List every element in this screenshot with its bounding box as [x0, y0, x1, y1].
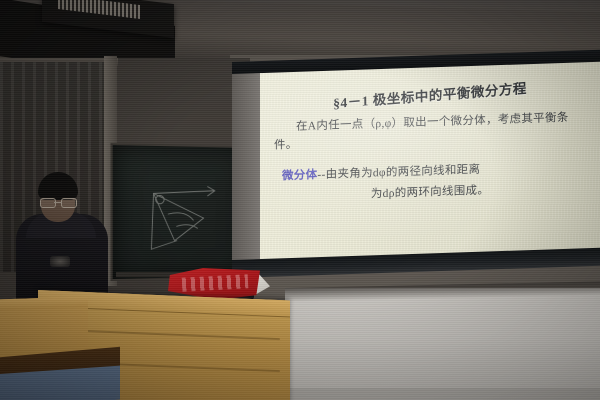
lecturer	[10, 172, 120, 307]
slide-keyword: 微分体	[282, 169, 317, 182]
projection-screen: §4－1 极坐标中的平衡微分方程 在A内任一点（ρ,φ）取出一个微分体，考虑其平…	[232, 50, 600, 290]
eyeglass-lens-right	[61, 198, 77, 208]
lecturer-hair	[38, 172, 78, 200]
eyeglasses-icon	[40, 198, 76, 206]
eyeglass-bridge	[54, 202, 61, 203]
chalk-sketch-icon	[113, 145, 244, 279]
slide-paragraph-1: 在A内任一点（ρ,φ）取出一个微分体，考虑其平衡条件。	[274, 109, 586, 155]
blackboard	[110, 143, 247, 281]
hoodie-logo	[50, 256, 70, 267]
lecture-hall-photo: §4－1 极坐标中的平衡微分方程 在A内任一点（ρ,φ）取出一个微分体，考虑其平…	[0, 0, 600, 400]
wall-baseboard	[285, 388, 600, 400]
eyeglass-lens-left	[40, 198, 56, 208]
lower-wall	[285, 288, 600, 400]
slide-paragraph-2-rest: --由夹角为dφ的两径向线和距离	[317, 163, 480, 180]
screen-left-margin	[232, 73, 262, 262]
side-desk-top-surface	[0, 296, 88, 310]
slide-content: §4－1 极坐标中的平衡微分方程 在A内任一点（ρ,φ）取出一个微分体，考虑其平…	[260, 62, 600, 261]
projected-slide-area: §4－1 极坐标中的平衡微分方程 在A内任一点（ρ,φ）取出一个微分体，考虑其平…	[260, 62, 600, 261]
